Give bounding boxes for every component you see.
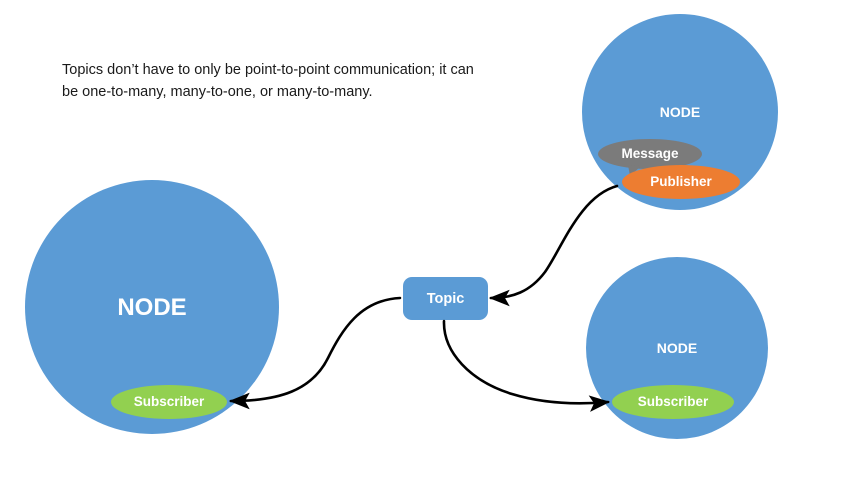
arrow-publisher-to-topic	[491, 186, 617, 298]
slide-canvas: Topics don’t have to only be point-to-po…	[0, 0, 854, 480]
subscriber-left-ellipse-shape[interactable]	[111, 385, 227, 419]
node-circles	[25, 14, 778, 439]
arrow-topic-to-subscriber-bottom-right	[444, 321, 608, 403]
subscriber-bottom-right-ellipse-shape[interactable]	[612, 385, 734, 419]
topic-box-shape[interactable]	[403, 277, 488, 320]
publisher-ellipse-shape[interactable]	[622, 165, 740, 199]
message-ellipse	[598, 139, 702, 169]
diagram-shapes-layer	[0, 0, 854, 480]
